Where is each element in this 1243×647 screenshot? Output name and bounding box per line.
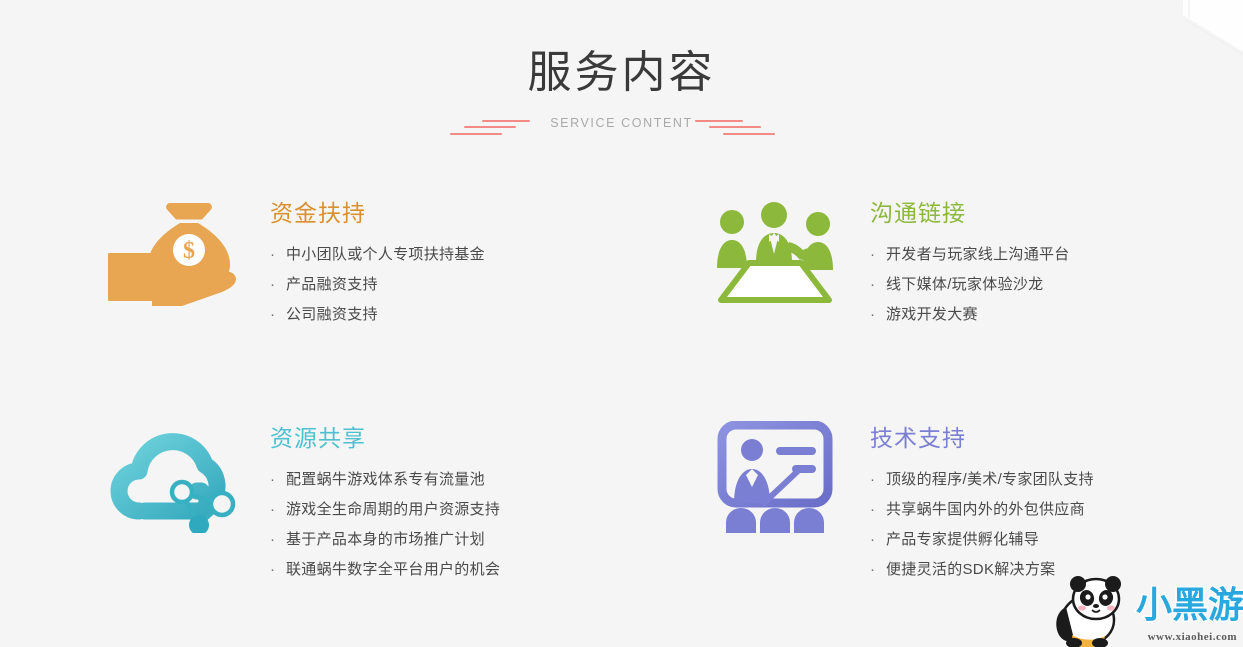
feature-title: 技术支持: [870, 423, 1094, 453]
list-item: ·联通蜗牛数字全平台用户的机会: [270, 555, 500, 585]
feature-row-1: $ 资金扶持 ·中小团队或个人专项扶持基金 ·产品融资支持 ·公司融资支持: [0, 192, 1243, 330]
bullet-text: 产品专家提供孵化辅导: [886, 531, 1039, 548]
list-item: ·配置蜗牛游戏体系专有流量池: [270, 465, 500, 495]
bullet-marker: ·: [870, 555, 886, 585]
bullet-text: 游戏开发大赛: [886, 306, 978, 323]
feature-card-communication-link: 沟通链接 ·开发者与玩家线上沟通平台 ·线下媒体/玩家体验沙龙 ·游戏开发大赛: [621, 192, 1242, 330]
feature-bullet-list: ·配置蜗牛游戏体系专有流量池 ·游戏全生命周期的用户资源支持 ·基于产品本身的市…: [270, 465, 500, 585]
bullet-marker: ·: [870, 240, 886, 270]
feature-title: 资金扶持: [270, 198, 485, 228]
list-item: ·产品专家提供孵化辅导: [870, 525, 1094, 555]
presentation-training-icon: [700, 417, 850, 537]
bullet-text: 线下媒体/玩家体验沙龙: [886, 276, 1043, 293]
decoration-lines-right: [665, 112, 785, 138]
bullet-text: 产品融资支持: [286, 276, 378, 293]
list-item: ·开发者与玩家线上沟通平台: [870, 240, 1070, 270]
bullet-text: 基于产品本身的市场推广计划: [286, 531, 485, 548]
feature-grid: $ 资金扶持 ·中小团队或个人专项扶持基金 ·产品融资支持 ·公司融资支持: [0, 192, 1243, 585]
bullet-text: 开发者与玩家线上沟通平台: [886, 246, 1070, 263]
watermark-brand: 小黑游戏: [1136, 585, 1243, 626]
slide-header: 服务内容 SERVICE CONTENT: [0, 46, 1243, 138]
list-item: ·产品融资支持: [270, 270, 485, 300]
bullet-marker: ·: [270, 270, 286, 300]
feature-card-technical-support: 技术支持 ·顶级的程序/美术/专家团队支持 ·共享蜗牛国内外的外包供应商 ·产品…: [621, 417, 1242, 585]
feature-text-funding-support: 资金扶持 ·中小团队或个人专项扶持基金 ·产品融资支持 ·公司融资支持: [250, 192, 485, 330]
bullet-text: 便捷灵活的SDK解决方案: [886, 561, 1055, 578]
feature-text-resource-sharing: 资源共享 ·配置蜗牛游戏体系专有流量池 ·游戏全生命周期的用户资源支持 ·基于产…: [250, 417, 500, 585]
list-item: ·中小团队或个人专项扶持基金: [270, 240, 485, 270]
feature-text-technical-support: 技术支持 ·顶级的程序/美术/专家团队支持 ·共享蜗牛国内外的外包供应商 ·产品…: [850, 417, 1094, 585]
bullet-marker: ·: [870, 300, 886, 330]
list-item: ·共享蜗牛国内外的外包供应商: [870, 495, 1094, 525]
feature-card-funding-support: $ 资金扶持 ·中小团队或个人专项扶持基金 ·产品融资支持 ·公司融资支持: [0, 192, 621, 330]
bullet-marker: ·: [870, 270, 886, 300]
bullet-marker: ·: [870, 465, 886, 495]
bullet-text: 联通蜗牛数字全平台用户的机会: [286, 561, 500, 578]
bullet-text: 配置蜗牛游戏体系专有流量池: [286, 471, 485, 488]
list-item: ·公司融资支持: [270, 300, 485, 330]
feature-bullet-list: ·开发者与玩家线上沟通平台 ·线下媒体/玩家体验沙龙 ·游戏开发大赛: [870, 240, 1070, 330]
slide-root: 服务内容 SERVICE CONTENT: [0, 0, 1243, 647]
bullet-marker: ·: [270, 240, 286, 270]
feature-card-resource-sharing: 资源共享 ·配置蜗牛游戏体系专有流量池 ·游戏全生命周期的用户资源支持 ·基于产…: [0, 417, 621, 585]
list-item: ·基于产品本身的市场推广计划: [270, 525, 500, 555]
bullet-marker: ·: [270, 555, 286, 585]
watermark: 小黑游戏 www.xiaohei.com: [1040, 575, 1243, 647]
bullet-marker: ·: [270, 465, 286, 495]
bullet-text: 共享蜗牛国内外的外包供应商: [886, 501, 1085, 518]
svg-text:$: $: [183, 238, 195, 264]
list-item: ·游戏开发大赛: [870, 300, 1070, 330]
bullet-marker: ·: [270, 300, 286, 330]
bullet-marker: ·: [870, 495, 886, 525]
bullet-text: 公司融资支持: [286, 306, 378, 323]
bullet-text: 顶级的程序/美术/专家团队支持: [886, 471, 1094, 488]
bullet-text: 中小团队或个人专项扶持基金: [286, 246, 485, 263]
feature-title: 沟通链接: [870, 198, 1070, 228]
feature-title: 资源共享: [270, 423, 500, 453]
bullet-text: 游戏全生命周期的用户资源支持: [286, 501, 500, 518]
feature-bullet-list: ·顶级的程序/美术/专家团队支持 ·共享蜗牛国内外的外包供应商 ·产品专家提供孵…: [870, 465, 1094, 585]
feature-row-2: 资源共享 ·配置蜗牛游戏体系专有流量池 ·游戏全生命周期的用户资源支持 ·基于产…: [0, 417, 1243, 585]
subtitle-row: SERVICE CONTENT: [0, 108, 1243, 138]
list-item: ·顶级的程序/美术/专家团队支持: [870, 465, 1094, 495]
page-title: 服务内容: [0, 46, 1243, 100]
bullet-marker: ·: [270, 495, 286, 525]
feature-text-communication-link: 沟通链接 ·开发者与玩家线上沟通平台 ·线下媒体/玩家体验沙龙 ·游戏开发大赛: [850, 192, 1070, 330]
list-item: ·游戏全生命周期的用户资源支持: [270, 495, 500, 525]
bullet-marker: ·: [870, 525, 886, 555]
meeting-people-icon: [700, 192, 850, 312]
feature-bullet-list: ·中小团队或个人专项扶持基金 ·产品融资支持 ·公司融资支持: [270, 240, 485, 330]
cloud-network-icon: [100, 417, 250, 537]
watermark-url: www.xiaohei.com: [1148, 631, 1237, 643]
panda-mascot-icon: [1056, 576, 1121, 647]
list-item: ·线下媒体/玩家体验沙龙: [870, 270, 1070, 300]
bullet-marker: ·: [270, 525, 286, 555]
decoration-lines-left: [440, 112, 560, 138]
money-bag-hand-icon: $: [100, 192, 250, 312]
